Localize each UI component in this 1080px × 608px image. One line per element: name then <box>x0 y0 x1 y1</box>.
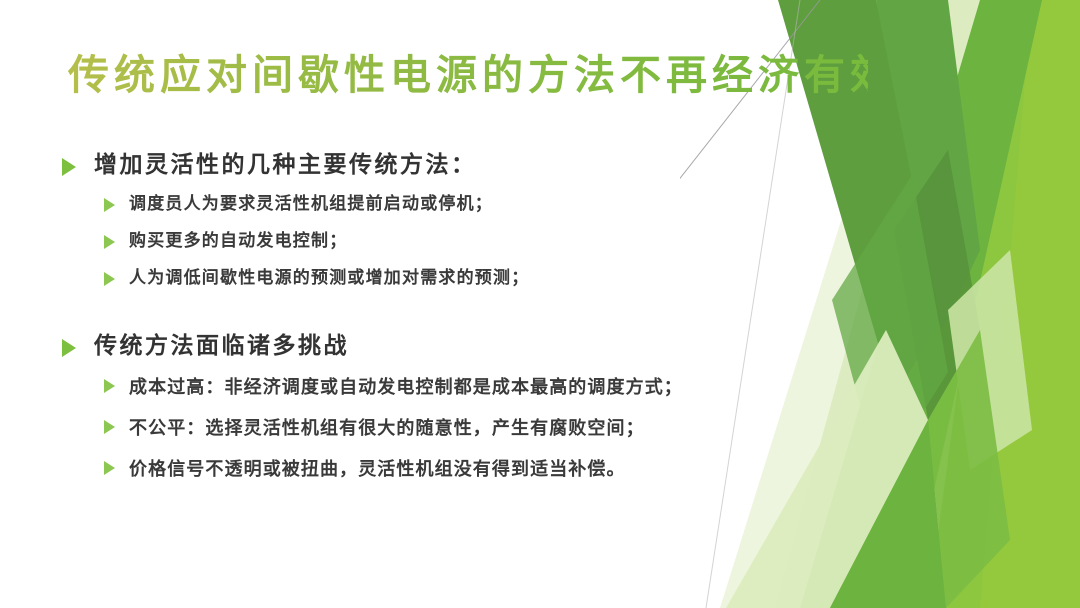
list-item: 调度员人为要求灵活性机组提前启动或停机； <box>62 188 822 221</box>
bullet-level1-heading: 增加灵活性的几种主要传统方法： <box>62 148 822 182</box>
list-item-label: 人为调低间歇性电源的预测或增加对需求的预测； <box>129 262 529 295</box>
bullet-level1-heading: 传统方法面临诸多挑战 <box>62 329 822 363</box>
list-item-label: 调度员人为要求灵活性机组提前启动或停机； <box>129 188 493 221</box>
bullet-section-2: 传统方法面临诸多挑战 成本过高：非经济调度或自动发电控制都是成本最高的调度方式；… <box>62 329 822 488</box>
slide-body: 增加灵活性的几种主要传统方法： 调度员人为要求灵活性机组提前启动或停机； 购买更… <box>62 148 822 492</box>
title-container: 传统应对间歇性电源的方法不再经济有效 <box>68 46 868 108</box>
list-item-label: 不公平：选择灵活性机组有很大的随意性，产生有腐败空间； <box>129 410 645 447</box>
section-spacer <box>62 299 822 329</box>
page-title: 传统应对间歇性电源的方法不再经济有效 <box>68 46 868 104</box>
list-item: 人为调低间歇性电源的预测或增加对需求的预测； <box>62 262 822 295</box>
triangle-right-icon <box>104 420 115 434</box>
bullet-section-1: 增加灵活性的几种主要传统方法： 调度员人为要求灵活性机组提前启动或停机； 购买更… <box>62 148 822 295</box>
list-item-label: 价格信号不透明或被扭曲，灵活性机组没有得到适当补偿。 <box>129 451 626 488</box>
list-item: 不公平：选择灵活性机组有很大的随意性，产生有腐败空间； <box>62 410 822 447</box>
list-item: 购买更多的自动发电控制； <box>62 225 822 258</box>
bullet-level2-list: 成本过高：非经济调度或自动发电控制都是成本最高的调度方式； 不公平：选择灵活性机… <box>62 369 822 488</box>
bullet-level1-label: 传统方法面临诸多挑战 <box>94 329 349 363</box>
list-item: 价格信号不透明或被扭曲，灵活性机组没有得到适当补偿。 <box>62 451 822 488</box>
list-item-label: 成本过高：非经济调度或自动发电控制都是成本最高的调度方式； <box>129 369 683 406</box>
triangle-right-icon <box>104 379 115 393</box>
bullet-level1-label: 增加灵活性的几种主要传统方法： <box>94 148 477 182</box>
bullet-level2-list: 调度员人为要求灵活性机组提前启动或停机； 购买更多的自动发电控制； 人为调低间歇… <box>62 188 822 295</box>
triangle-right-icon <box>104 235 115 249</box>
triangle-right-icon <box>62 158 76 176</box>
triangle-right-icon <box>104 461 115 475</box>
presentation-slide: 传统应对间歇性电源的方法不再经济有效 增加灵活性的几种主要传统方法： 调度员人为… <box>0 0 1080 608</box>
triangle-right-icon <box>62 339 76 357</box>
triangle-right-icon <box>104 198 115 212</box>
list-item: 成本过高：非经济调度或自动发电控制都是成本最高的调度方式； <box>62 369 822 406</box>
list-item-label: 购买更多的自动发电控制； <box>129 225 347 258</box>
triangle-right-icon <box>104 272 115 286</box>
